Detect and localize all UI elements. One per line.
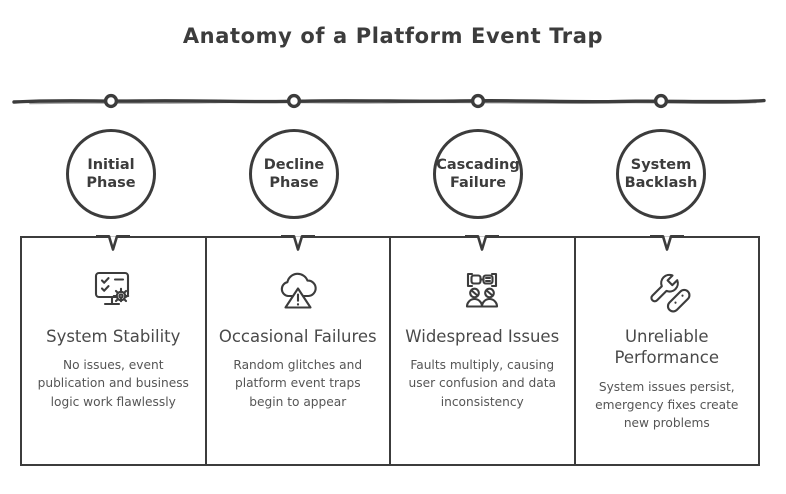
card-description: Faults multiply, causing user confusion … [402,356,563,410]
phase-circle-label-4: System Backlash [625,156,698,192]
timeline-rail-shadow [30,102,756,103]
cloud-warning-icon [272,266,324,314]
phase-circle-label-1: Initial Phase [86,156,135,192]
phase-circle-4[interactable]: System Backlash [616,129,706,219]
timeline-node-4 [656,96,667,107]
phase-circle-line1: Decline [264,157,325,173]
card-title: Occasional Failures [214,326,382,347]
phase-circle-line2: Phase [86,175,135,191]
checklist-gear-icon [87,266,139,314]
phase-circle-line1: Cascading [436,157,520,173]
page-title: Anatomy of a Platform Event Trap [0,24,786,48]
card-title: Widespread Issues [398,326,566,347]
phase-circle-line1: System [631,157,691,173]
card-notch-icon [650,235,684,253]
card-description: No issues, event publication and busines… [33,356,194,410]
phase-circle-line1: Initial [87,157,134,173]
card-description: Random glitches and platform event traps… [217,356,378,410]
timeline-rail [14,101,764,102]
phase-card-3[interactable]: Widespread Issues Faults multiply, causi… [389,236,574,466]
phase-circle-3[interactable]: Cascading Failure [433,129,523,219]
card-notch-icon [465,235,499,253]
timeline-node-1 [106,96,117,107]
phase-cards: System Stability No issues, event public… [20,236,760,466]
card-notch-icon [96,235,130,253]
infographic-root: Anatomy of a Platform Event Trap Initial… [0,0,786,494]
phase-card-4[interactable]: Unreliable Performance System issues per… [574,236,761,466]
card-title: Unreliable Performance [583,326,751,369]
phase-circle-2[interactable]: Decline Phase [249,129,339,219]
phase-circle-line2: Phase [269,175,318,191]
phase-card-2[interactable]: Occasional Failures Random glitches and … [205,236,390,466]
phase-circle-line2: Failure [450,175,506,191]
timeline-node-3 [473,96,484,107]
phase-circle-1[interactable]: Initial Phase [66,129,156,219]
confused-users-icon [456,266,508,314]
phase-circle-line2: Backlash [625,175,698,191]
card-notch-icon [281,235,315,253]
card-title: System Stability [29,326,197,347]
phase-circle-label-3: Cascading Failure [436,156,520,192]
phase-card-1[interactable]: System Stability No issues, event public… [20,236,205,466]
phase-circle-label-2: Decline Phase [264,156,325,192]
card-description: System issues persist, emergency fixes c… [586,378,747,432]
wrench-screwdriver-icon [641,266,693,314]
timeline-node-2 [289,96,300,107]
